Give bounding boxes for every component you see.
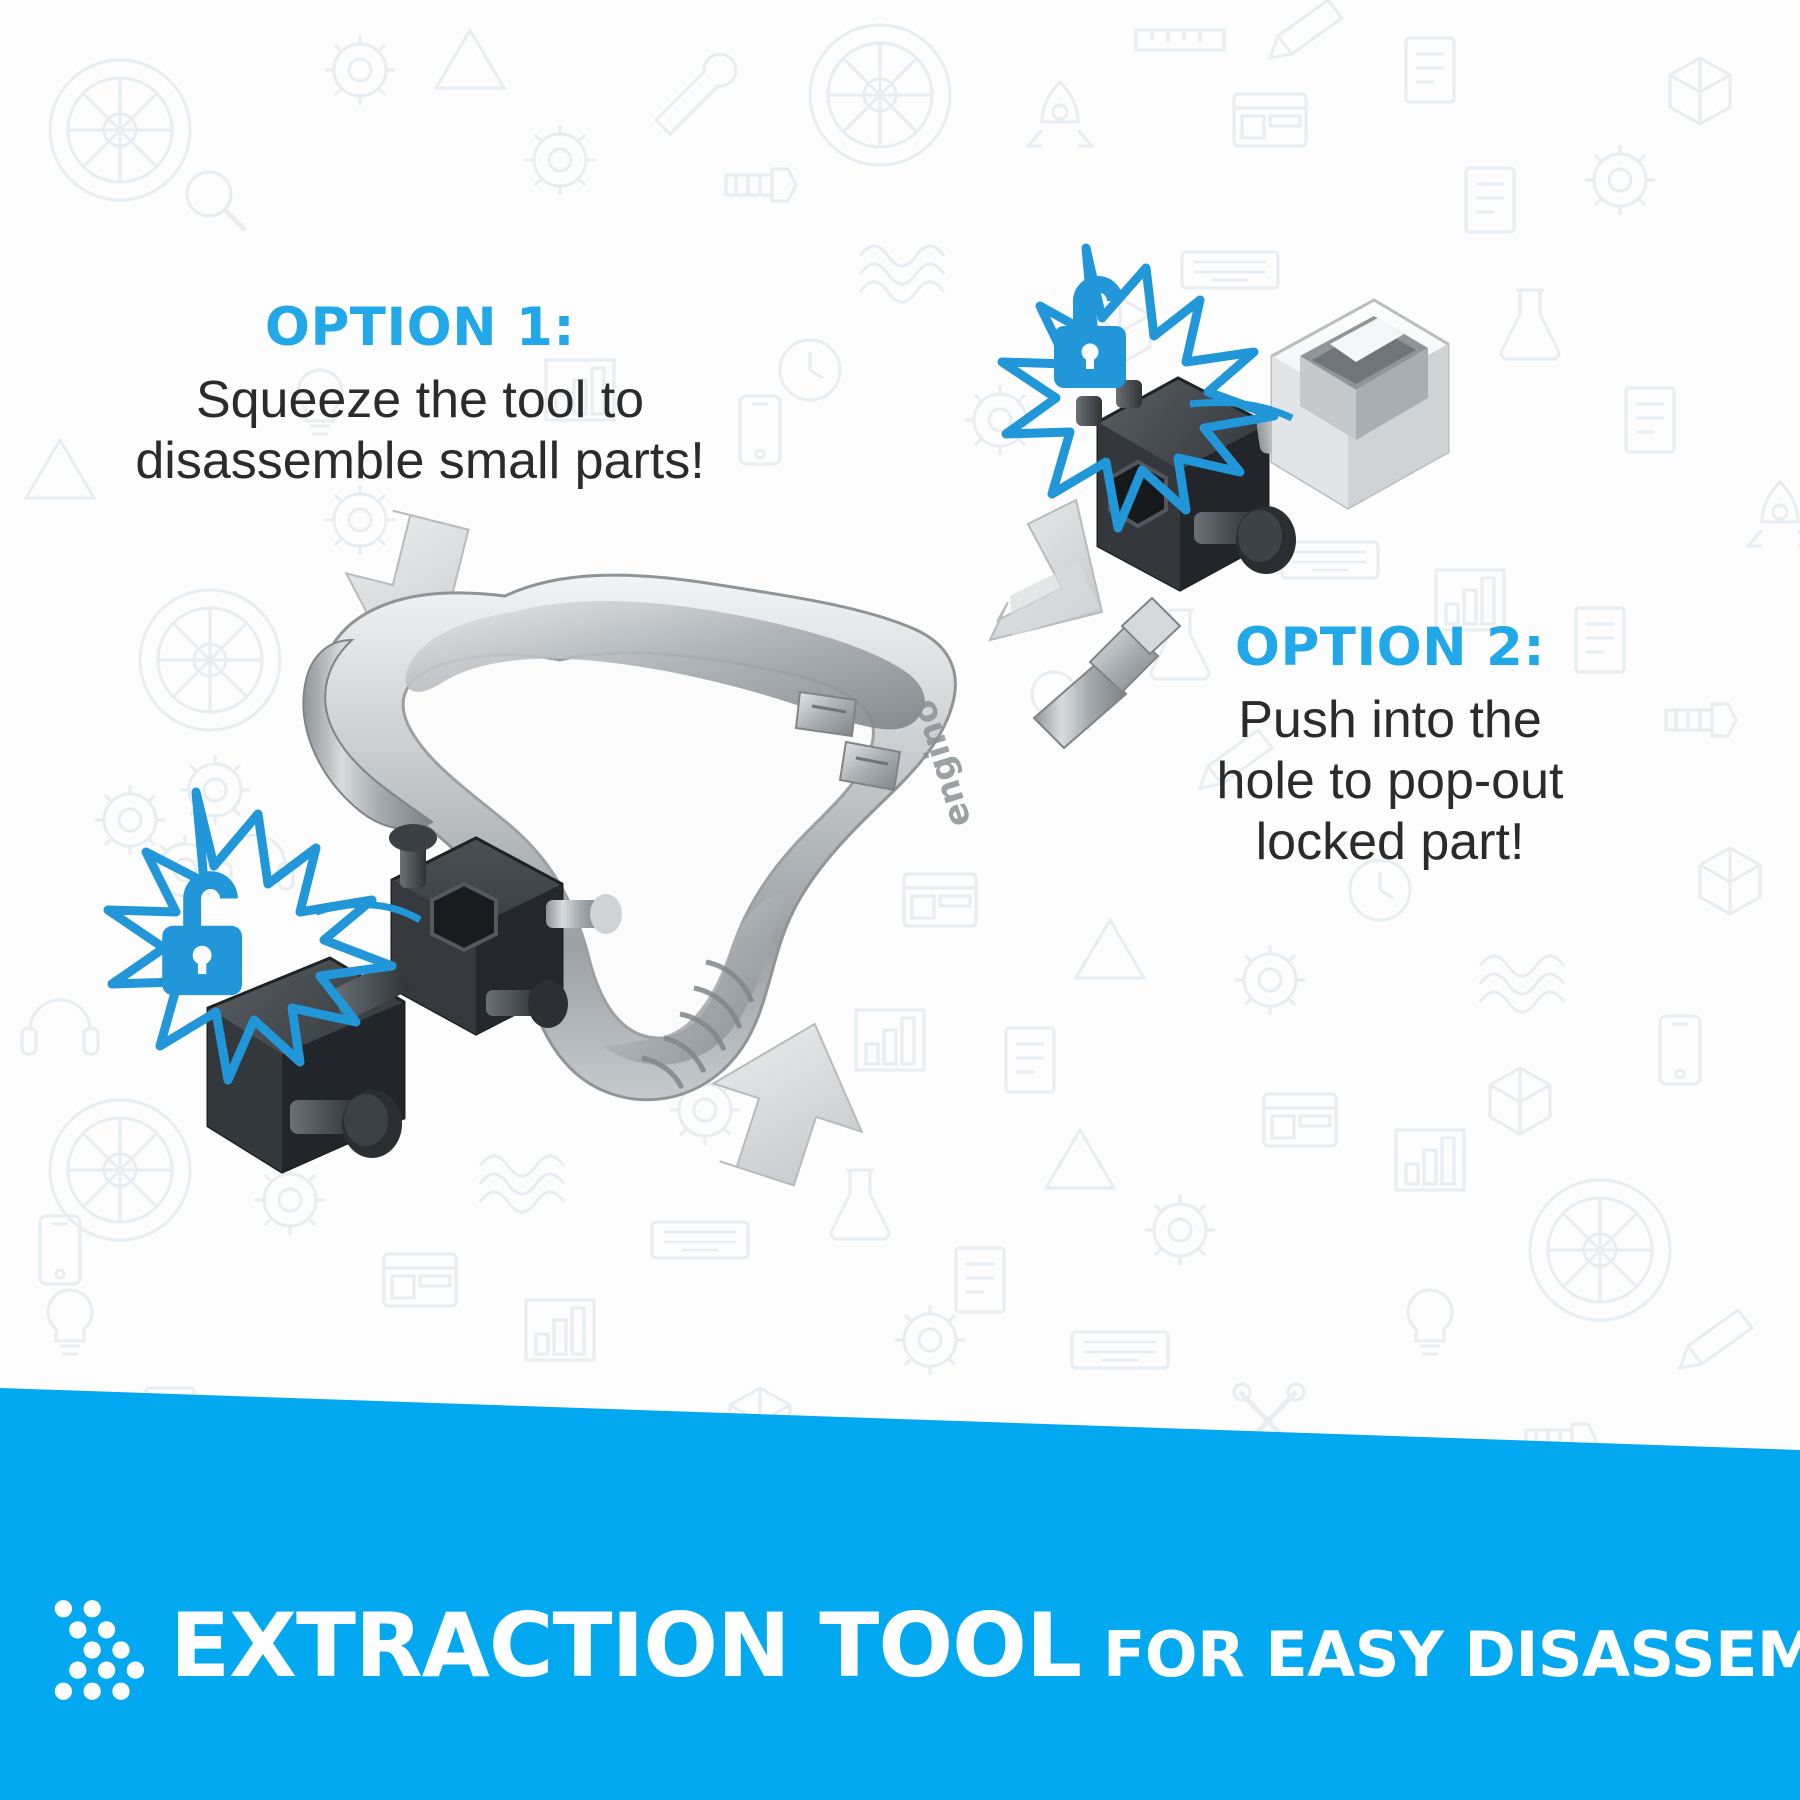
option-2-heading: OPTION 2: — [1030, 620, 1750, 676]
push-arrow-right — [990, 500, 1102, 640]
option-2-line-2: hole to pop-out — [1030, 751, 1750, 812]
option-2-line-3: locked part! — [1030, 812, 1750, 873]
option-1-heading: OPTION 1: — [90, 300, 750, 356]
white-socket-block-right — [1272, 300, 1448, 508]
option-2-line-1: Push into the — [1030, 690, 1750, 751]
poster-canvas: engino — [0, 0, 1800, 1800]
option-1-line-2: disassemble small parts! — [90, 431, 750, 492]
callout-option-2: OPTION 2: Push into the hole to pop-out … — [1030, 620, 1750, 874]
extraction-tool-illustration: engino — [0, 0, 1800, 1800]
open-padlock-icon — [162, 871, 242, 995]
option-1-line-1: Squeeze the tool to — [90, 370, 750, 431]
callout-option-1: OPTION 1: Squeeze the tool to disassembl… — [90, 300, 750, 492]
open-padlock-icon — [1054, 276, 1126, 388]
